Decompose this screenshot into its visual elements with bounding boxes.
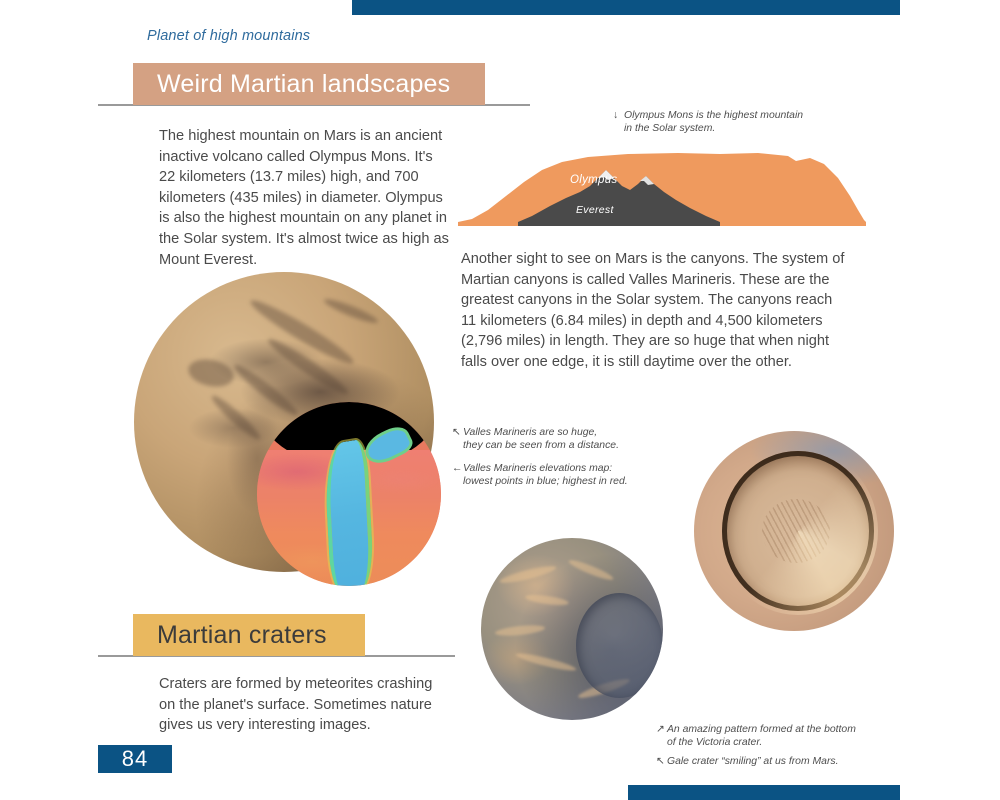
caption-olympus-line1: Olympus Mons is the highest mountain [624, 109, 803, 122]
mars-surface-marking [322, 296, 380, 327]
gale-crater-ridge [495, 623, 546, 637]
gale-crater-ridge [515, 651, 577, 674]
gale-crater-ridge [499, 563, 557, 586]
caption-valles-distance-line1: Valles Marineris are so huge, [463, 426, 597, 439]
page-canvas: Planet of high mountains Weird Martian l… [0, 0, 1000, 800]
section-heading-craters: Martian craters [133, 614, 365, 656]
bottom-blue-bar [628, 785, 900, 800]
body-text-craters: Craters are formed by meteorites crashin… [159, 674, 444, 736]
gale-crater-bowl [576, 593, 663, 699]
caption-victoria-crater: ↗An amazing pattern formed at the bottom… [656, 723, 916, 750]
section-heading-craters-label: Martian craters [157, 621, 327, 650]
running-head: Planet of high mountains [147, 28, 310, 44]
top-blue-bar [352, 0, 900, 15]
gale-crater-ridge [567, 557, 615, 582]
caption-valles-distance: ↖Valles Marineris are so huge, they can … [452, 426, 652, 453]
caption-valles-elevation-line2: lowest points in blue; highest in red. [452, 475, 662, 488]
section-heading-landscapes-label: Weird Martian landscapes [157, 70, 450, 99]
caption-valles-elevation-line1: Valles Marineris elevations map: [463, 462, 612, 475]
arrow-up-left-icon: ↖ [656, 755, 667, 768]
arrow-up-right-icon: ↗ [656, 723, 667, 736]
mars-surface-marking [186, 356, 236, 391]
caption-olympus-mons: ↓Olympus Mons is the highest mountain in… [613, 109, 873, 136]
gale-crater-ridge [525, 593, 570, 607]
arrow-left-icon: ← [452, 462, 463, 475]
section-heading-landscapes: Weird Martian landscapes [133, 63, 485, 105]
body-text-landscapes: The highest mountain on Mars is an ancie… [159, 126, 449, 270]
victoria-crater-image [694, 431, 894, 631]
olympus-profile-svg [458, 148, 866, 226]
page-number: 84 [98, 745, 172, 773]
caption-victoria-line2: of the Victoria crater. [656, 736, 916, 749]
mars-surface-marking [209, 392, 264, 443]
caption-valles-elevation: ←Valles Marineris elevations map: lowest… [452, 462, 662, 489]
caption-valles-distance-line2: they can be seen from a distance. [452, 439, 652, 452]
caption-gale-line1: Gale crater “smiling” at us from Mars. [667, 755, 838, 768]
olympus-everest-diagram: Olympus Everest [458, 148, 866, 226]
caption-gale-crater: ↖Gale crater “smiling” at us from Mars. [656, 755, 916, 768]
map-canyon-trench [323, 439, 375, 586]
valles-marineris-elevation-map-image [257, 402, 441, 586]
arrow-up-left-icon: ↖ [452, 426, 463, 439]
caption-victoria-line1: An amazing pattern formed at the bottom [667, 723, 856, 736]
caption-olympus-line2: in the Solar system. [613, 122, 873, 135]
body-text-canyons: Another sight to see on Mars is the cany… [461, 249, 851, 373]
victoria-crater-rim-highlight [718, 447, 878, 615]
arrow-down-icon: ↓ [613, 109, 624, 122]
gale-crater-image [481, 538, 663, 720]
